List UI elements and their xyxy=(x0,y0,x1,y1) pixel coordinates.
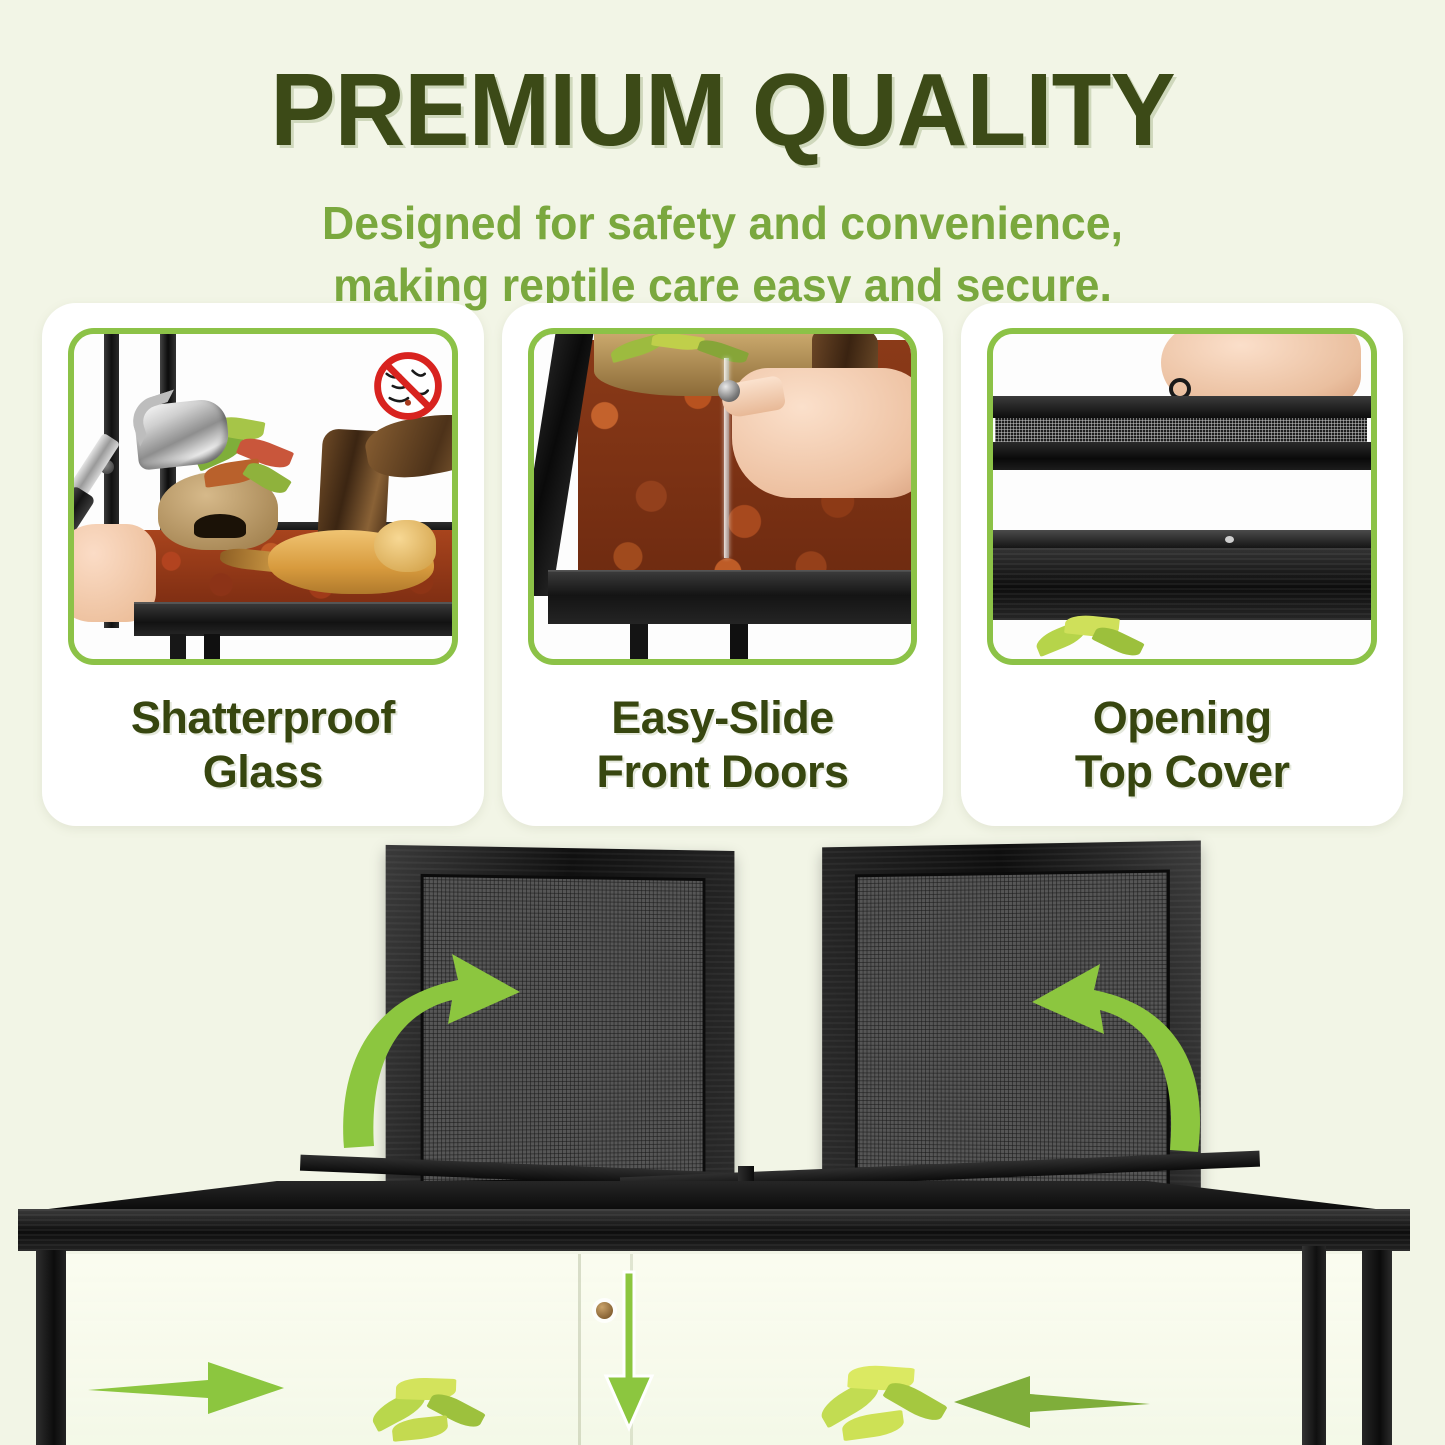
feature-label-line-2: Front Doors xyxy=(510,745,936,799)
front-glass-doors[interactable] xyxy=(60,1254,1362,1445)
feature-card-easy-slide-front-doors[interactable]: Easy-Slide Front Doors xyxy=(502,303,944,826)
feature-card-opening-top-cover[interactable]: Opening Top Cover xyxy=(961,303,1403,826)
plant-decor xyxy=(1035,614,1145,659)
feature-card-label: Opening Top Cover xyxy=(969,691,1395,799)
opening-top-cover-photo xyxy=(993,334,1371,659)
feature-photo-frame xyxy=(987,328,1377,665)
arrow-lift-top-down xyxy=(600,1272,656,1432)
page-title: PREMIUM QUALITY xyxy=(36,58,1409,161)
feature-label-line-1: Easy-Slide xyxy=(611,692,834,743)
feature-photo-frame xyxy=(528,328,918,665)
arrow-slide-door-right xyxy=(88,1360,288,1416)
feature-label-line-1: Opening xyxy=(1093,692,1272,743)
feature-photo-frame xyxy=(68,328,458,665)
feature-label-line-2: Top Cover xyxy=(969,745,1395,799)
terrarium-top-frame xyxy=(18,1181,1410,1251)
mesh-screen xyxy=(995,418,1367,442)
product-illustration xyxy=(0,826,1445,1445)
arrow-slide-door-left xyxy=(950,1374,1150,1430)
arrow-open-right-top-panel xyxy=(1020,940,1220,1170)
subtitle-line-1: Designed for safety and convenience, xyxy=(322,197,1123,249)
page-subtitle: Designed for safety and convenience, mak… xyxy=(22,193,1424,316)
plant-decor xyxy=(818,1360,968,1445)
plant-decor xyxy=(370,1370,500,1445)
feature-label-line-1: Shatterproof xyxy=(131,692,395,743)
arrow-open-left-top-panel xyxy=(330,920,540,1170)
easy-slide-front-doors-photo xyxy=(534,334,912,659)
feature-label-line-2: Glass xyxy=(50,745,476,799)
door-knob-icon xyxy=(718,380,740,402)
feature-card-label: Shatterproof Glass xyxy=(50,691,476,799)
no-crack-icon xyxy=(370,348,446,424)
feature-card-label: Easy-Slide Front Doors xyxy=(510,691,936,799)
feature-card-shatterproof-glass[interactable]: Shatterproof Glass xyxy=(42,303,484,826)
shatterproof-glass-photo xyxy=(74,334,452,659)
feature-card-row: Shatterproof Glass xyxy=(42,303,1403,826)
plant-decor xyxy=(606,334,776,374)
